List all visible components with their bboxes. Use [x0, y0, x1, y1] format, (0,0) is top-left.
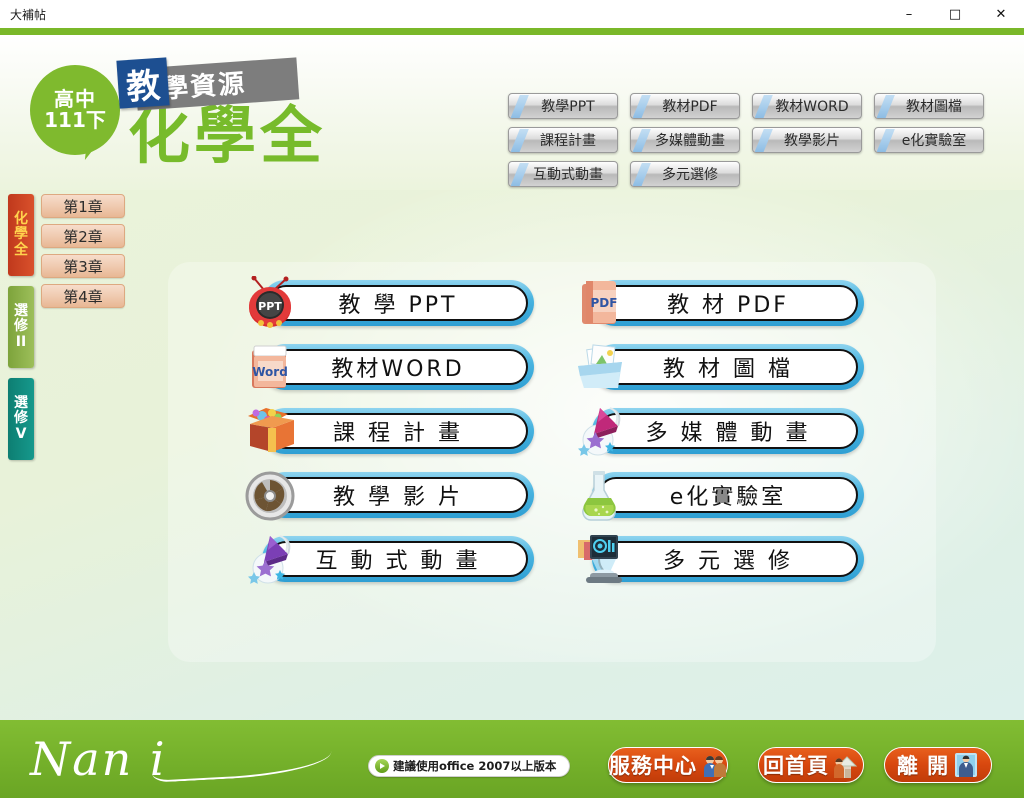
- menu-button-word[interactable]: 教材WORD Word: [244, 344, 534, 390]
- header-tab-label: 多媒體動畫: [645, 130, 725, 150]
- logo-band-text: 學資源: [161, 63, 247, 106]
- word-book-icon: Word: [244, 340, 300, 394]
- projector-icon: [574, 532, 630, 586]
- pencil-icon: [633, 163, 653, 186]
- menu-button-label: 教 材 PDF: [667, 287, 789, 319]
- treasure-box-icon: [244, 404, 300, 458]
- button-inner: 教材WORD: [268, 349, 528, 385]
- svg-text:PPT: PPT: [258, 300, 282, 313]
- subject-title: 化學全: [128, 105, 326, 167]
- window-titlebar: 大補帖 – □ ✕: [0, 0, 1024, 28]
- film-reel-icon: [244, 468, 300, 522]
- chapter-list: 第1章 第2章 第3章 第4章: [41, 194, 125, 314]
- home-button-label: 回首頁: [763, 750, 829, 780]
- pencil-icon: [633, 129, 653, 152]
- header-tab-multimedia[interactable]: 多媒體動畫: [630, 127, 740, 153]
- header-tab-video[interactable]: 教學影片: [752, 127, 862, 153]
- menu-button-label: 教 學 影 片: [333, 479, 463, 511]
- brand-swoosh: [152, 751, 333, 782]
- grade-badge-line2: 111下: [44, 110, 106, 131]
- svg-text:PDF: PDF: [591, 296, 618, 310]
- content-area: 化 學 全 選 修 II 選 修 V 第1章 第2章 第3章 第4章: [0, 190, 1024, 720]
- pencil-icon: [755, 95, 775, 118]
- menu-button-teach-ppt[interactable]: 教 學 PPT PPT: [244, 280, 534, 326]
- header-tab-pdf[interactable]: 教材PDF: [630, 93, 740, 119]
- header-tab-label: 互動式動畫: [523, 164, 603, 184]
- close-button[interactable]: ✕: [978, 0, 1024, 28]
- vtab-char: 全: [14, 243, 28, 258]
- ppt-tv-icon: PPT: [244, 276, 300, 330]
- header-tab-label: 課程計畫: [530, 130, 596, 150]
- menu-row: 教材WORD Word 教: [244, 344, 864, 390]
- brand-logo-text: Nan i: [30, 732, 167, 786]
- exit-button[interactable]: 離 開: [884, 747, 992, 783]
- pencil-icon: [877, 129, 897, 152]
- product-logo: 高中 111下 學資源 教 化學全: [18, 43, 348, 188]
- chapter-button-2[interactable]: 第2章: [41, 224, 125, 248]
- header-tab-label: 教材WORD: [765, 96, 848, 116]
- header-tab-label: 多元選修: [652, 164, 718, 184]
- menu-row: 教 學 PPT PPT: [244, 280, 864, 326]
- menu-button-label: 教 學 PPT: [339, 287, 458, 319]
- window-title: 大補帖: [10, 6, 46, 23]
- chapter-button-3[interactable]: 第3章: [41, 254, 125, 278]
- button-inner: 教 材 PDF: [598, 285, 858, 321]
- service-center-label: 服務中心: [609, 750, 697, 780]
- sidebar-item-elective-2[interactable]: 選 修 II: [8, 286, 34, 368]
- button-inner: 多 元 選 修: [598, 541, 858, 577]
- menu-button-video[interactable]: 教 學 影 片: [244, 472, 534, 518]
- pdf-book-icon: PDF: [574, 276, 630, 330]
- header-band: 高中 111下 學資源 教 化學全 教學PPT 教材PDF 教材WORD: [0, 35, 1024, 190]
- vtab-char: II: [16, 335, 26, 350]
- menu-button-label: 教材WORD: [331, 351, 464, 383]
- people-icon: [701, 752, 727, 778]
- menu-row: 課 程 計 畫: [244, 408, 864, 454]
- button-inner: 課 程 計 畫: [268, 413, 528, 449]
- office-version-text: 建議使用office 2007以上版本: [393, 758, 556, 774]
- header-tab-images[interactable]: 教材圖檔: [874, 93, 984, 119]
- window-controls: – □ ✕: [886, 0, 1024, 28]
- brand-logo: Nan i: [30, 726, 330, 792]
- header-tab-teach-ppt[interactable]: 教學PPT: [508, 93, 618, 119]
- header-tab-label: e化實驗室: [892, 130, 967, 150]
- menu-row: 教 學 影 片: [244, 472, 864, 518]
- magic-hat-icon: [574, 404, 630, 458]
- header-tab-interactive[interactable]: 互動式動畫: [508, 161, 618, 187]
- flask-icon: [574, 468, 630, 522]
- exit-button-label: 離 開: [897, 750, 949, 780]
- header-tab-group: 教學PPT 教材PDF 教材WORD 教材圖檔 課程計畫 多媒體動畫: [508, 93, 1008, 187]
- menu-button-label: 多 元 選 修: [663, 543, 793, 575]
- menu-button-elective[interactable]: 多 元 選 修: [574, 536, 864, 582]
- sidebar-item-elective-5[interactable]: 選 修 V: [8, 378, 34, 460]
- minimize-button[interactable]: –: [886, 0, 932, 28]
- service-center-button[interactable]: 服務中心: [608, 747, 728, 783]
- app-window: 大補帖 – □ ✕ 高中 111下 學資源 教 化學全 教學PPT: [0, 0, 1024, 798]
- chapter-button-4[interactable]: 第4章: [41, 284, 125, 308]
- image-folder-icon: [574, 340, 630, 394]
- vtab-char: V: [16, 427, 27, 442]
- exit-door-icon: [953, 752, 979, 778]
- button-inner: 教 材 圖 檔: [598, 349, 858, 385]
- menu-button-label: 互 動 式 動 畫: [316, 543, 481, 575]
- vtab-char: 學: [14, 227, 28, 242]
- sidebar-item-chem-all[interactable]: 化 學 全: [8, 194, 34, 276]
- menu-button-pdf[interactable]: 教 材 PDF PDF: [574, 280, 864, 326]
- header-tab-label: 教材圖檔: [896, 96, 962, 116]
- vtab-char: 選: [14, 396, 28, 411]
- vtab-char: 選: [14, 304, 28, 319]
- vtab-char: 修: [14, 319, 28, 334]
- vtab-char: 修: [14, 411, 28, 426]
- vtab-char: 化: [14, 212, 28, 227]
- menu-button-label: e化實驗室: [670, 479, 787, 511]
- header-tab-label: 教學PPT: [531, 96, 594, 116]
- button-inner: 互 動 式 動 畫: [268, 541, 528, 577]
- menu-button-elab[interactable]: e化實驗室: [574, 472, 864, 518]
- header-tab-elective[interactable]: 多元選修: [630, 161, 740, 187]
- main-menu: 教 學 PPT PPT: [244, 280, 864, 600]
- menu-button-interactive[interactable]: 互 動 式 動 畫: [244, 536, 534, 582]
- header-tab-label: 教材PDF: [652, 96, 717, 116]
- chapter-button-1[interactable]: 第1章: [41, 194, 125, 218]
- header-tab-label: 教學影片: [774, 130, 840, 150]
- play-icon: [375, 759, 389, 773]
- pencil-icon: [633, 95, 653, 118]
- menu-button-label: 課 程 計 畫: [333, 415, 463, 447]
- button-inner: 教 學 PPT: [268, 285, 528, 321]
- grade-badge: 高中 111下: [30, 65, 120, 155]
- pencil-icon: [877, 95, 897, 118]
- header-tab-word[interactable]: 教材WORD: [752, 93, 862, 119]
- menu-button-label: 教 材 圖 檔: [663, 351, 793, 383]
- office-version-note: 建議使用office 2007以上版本: [368, 755, 570, 777]
- sidebar: 化 學 全 選 修 II 選 修 V 第1章 第2章 第3章 第4章: [8, 194, 128, 454]
- pencil-icon: [511, 95, 531, 118]
- maximize-button[interactable]: □: [932, 0, 978, 28]
- menu-button-syllabus[interactable]: 課 程 計 畫: [244, 408, 534, 454]
- menu-button-images[interactable]: 教 材 圖 檔: [574, 344, 864, 390]
- svg-text:Word: Word: [252, 365, 288, 379]
- menu-button-label: 多 媒 體 動 畫: [646, 415, 811, 447]
- menu-row: 互 動 式 動 畫: [244, 536, 864, 582]
- pencil-icon: [511, 163, 531, 186]
- menu-button-multimedia[interactable]: 多 媒 體 動 畫: [574, 408, 864, 454]
- house-icon: [833, 752, 859, 778]
- header-tab-syllabus[interactable]: 課程計畫: [508, 127, 618, 153]
- pencil-icon: [755, 129, 775, 152]
- grade-badge-line1: 高中: [54, 89, 96, 110]
- button-inner: e化實驗室: [598, 477, 858, 513]
- top-green-rule: [0, 28, 1024, 35]
- magic-hat-icon: [244, 532, 300, 586]
- button-inner: 教 學 影 片: [268, 477, 528, 513]
- home-button[interactable]: 回首頁: [758, 747, 864, 783]
- logo-kanji-box: 教: [116, 57, 169, 108]
- button-inner: 多 媒 體 動 畫: [598, 413, 858, 449]
- pencil-icon: [511, 129, 531, 152]
- header-tab-elab[interactable]: e化實驗室: [874, 127, 984, 153]
